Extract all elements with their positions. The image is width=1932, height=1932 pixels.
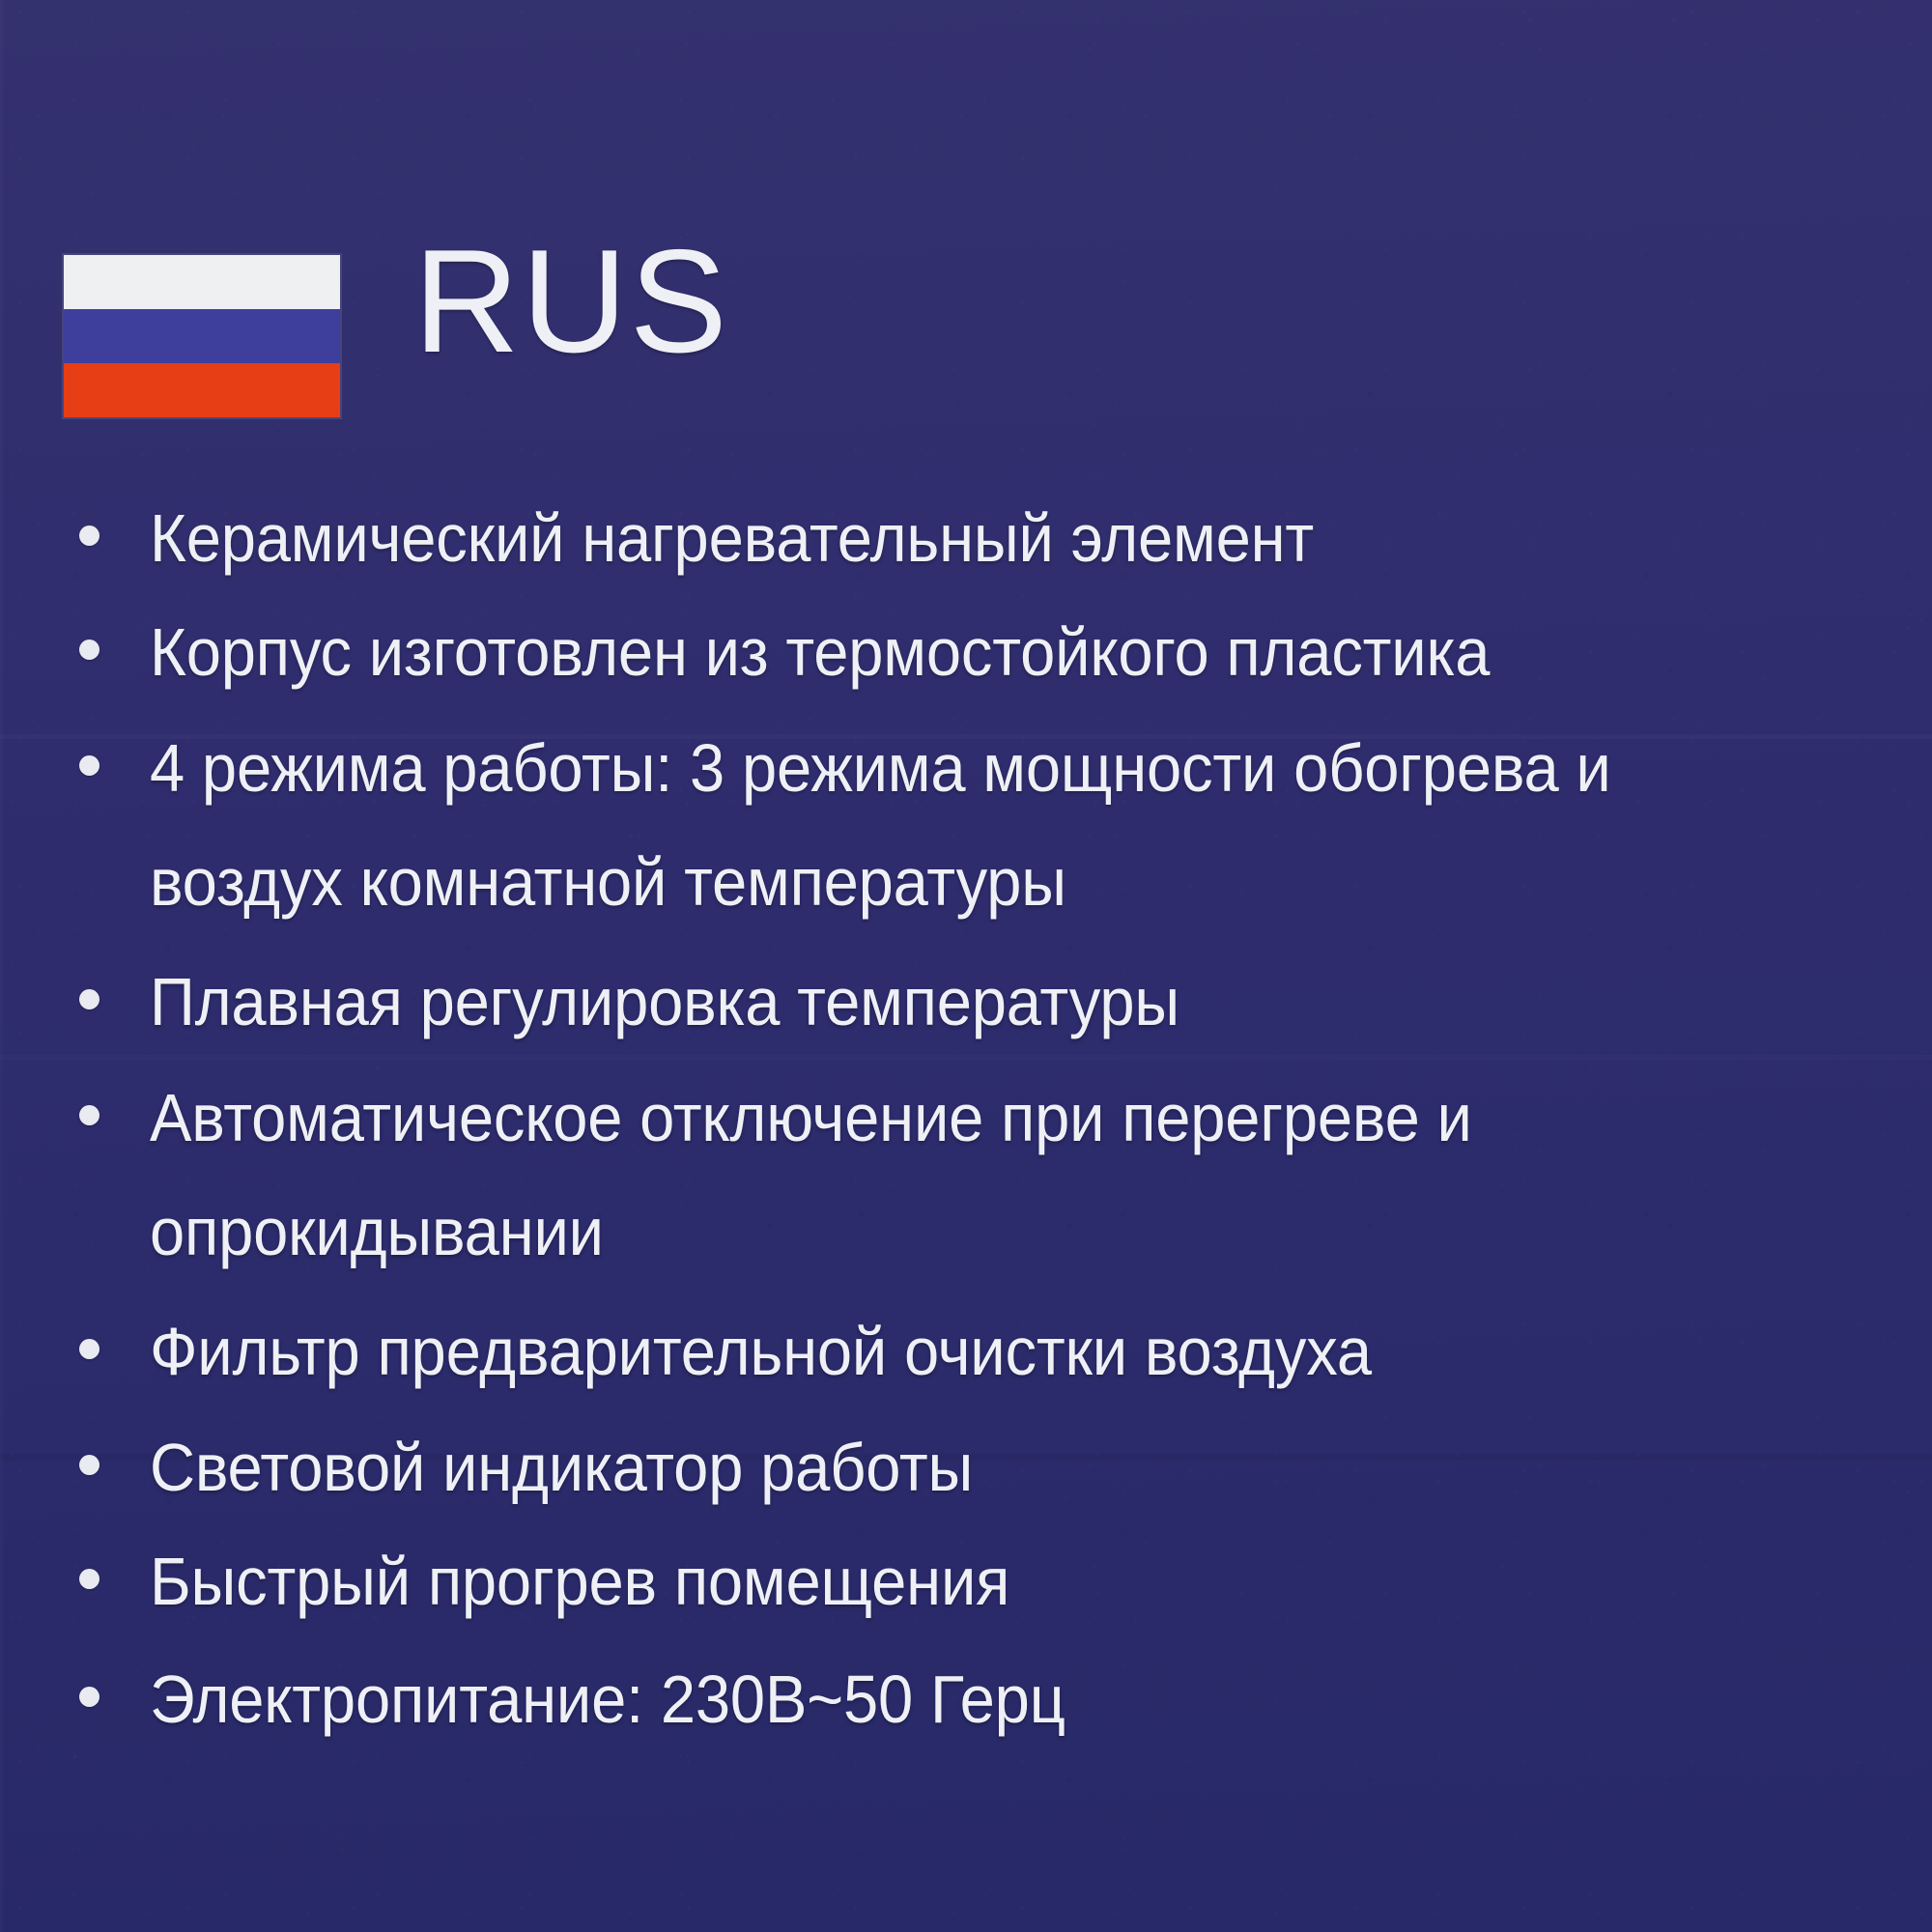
list-item: Плавная регулировка температуры	[0, 945, 1932, 1059]
bullet-dot-icon	[79, 1687, 99, 1707]
bullet-dot-icon	[79, 1105, 99, 1125]
feature-text: Световой индикатор работы	[150, 1410, 1807, 1524]
feature-text: Электропитание: 230В~50 Герц	[150, 1642, 1807, 1756]
bullet-dot-icon	[79, 989, 99, 1009]
bullet-dot-icon	[79, 639, 99, 660]
list-item: Электропитание: 230В~50 Герц	[0, 1642, 1932, 1756]
list-item: Быстрый прогрев помещения	[0, 1524, 1932, 1638]
feature-text: Плавная регулировка температуры	[150, 945, 1807, 1059]
list-item: Световой индикатор работы	[0, 1410, 1932, 1524]
flag-stripe-red	[64, 363, 340, 417]
language-code-label: RUS	[413, 220, 729, 383]
list-item: Автоматическое отключение при перегреве …	[0, 1061, 1932, 1289]
feature-text: 4 режима работы: 3 режима мощности обогр…	[150, 711, 1807, 939]
feature-text: Керамический нагревательный элемент	[150, 481, 1807, 595]
flag-stripe-white	[64, 255, 340, 309]
list-item: Корпус изготовлен из термостойкого пласт…	[0, 595, 1932, 709]
feature-text: Автоматическое отключение при перегреве …	[150, 1061, 1807, 1289]
flag-stripe-blue	[64, 309, 340, 363]
list-item: Керамический нагревательный элемент	[0, 481, 1932, 595]
bullet-dot-icon	[79, 1569, 99, 1589]
russia-flag-icon	[64, 255, 340, 417]
feature-text: Быстрый прогрев помещения	[150, 1524, 1807, 1638]
list-item: 4 режима работы: 3 режима мощности обогр…	[0, 711, 1932, 939]
list-item: Фильтр предварительной очистки воздуха	[0, 1294, 1932, 1408]
feature-text: Корпус изготовлен из термостойкого пласт…	[150, 595, 1807, 709]
product-spec-panel: RUS Керамический нагревательный элемент …	[0, 0, 1932, 1932]
bullet-dot-icon	[79, 1339, 99, 1359]
bullet-dot-icon	[79, 526, 99, 546]
feature-list: Керамический нагревательный элемент Корп…	[0, 481, 1932, 1756]
feature-text: Фильтр предварительной очистки воздуха	[150, 1294, 1807, 1408]
language-header: RUS	[0, 0, 1932, 454]
bullet-dot-icon	[79, 1455, 99, 1475]
bullet-dot-icon	[79, 755, 99, 776]
